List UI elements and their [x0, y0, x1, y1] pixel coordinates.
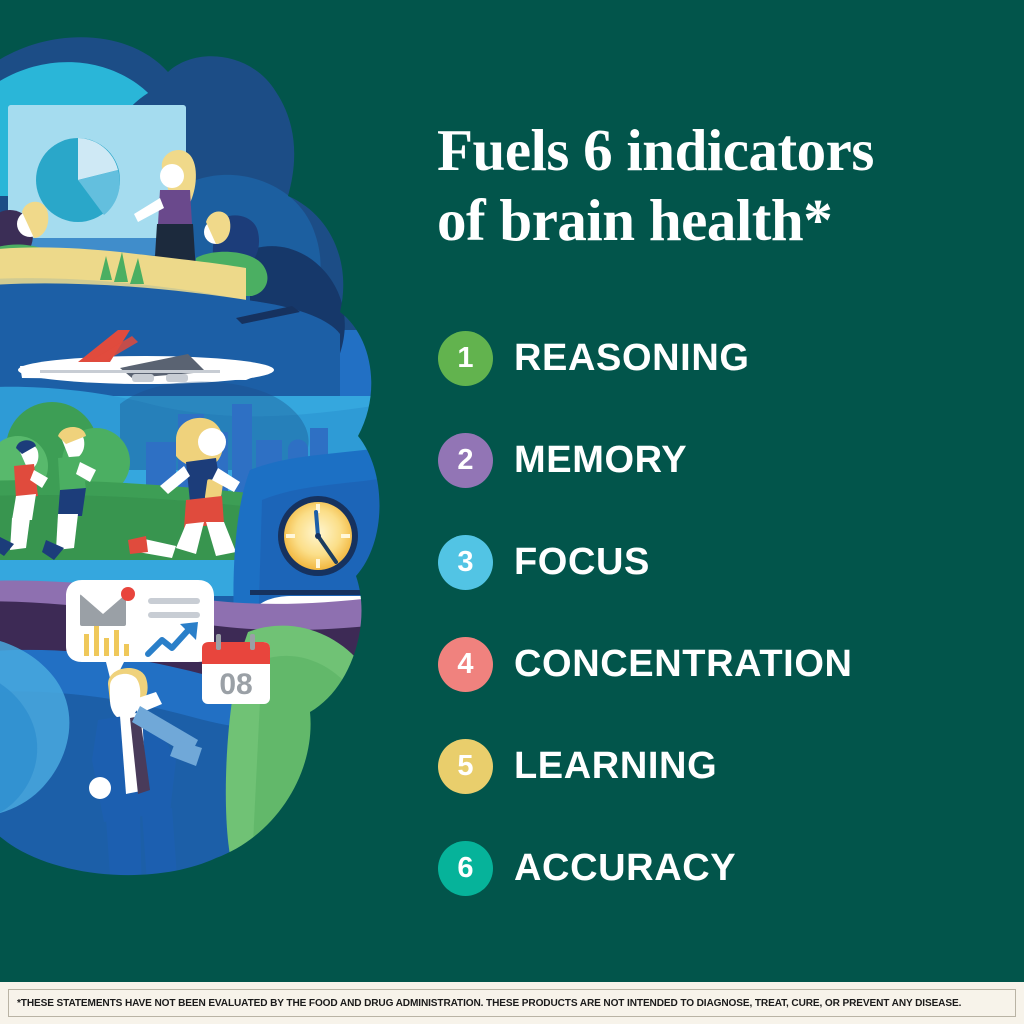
indicator-badge-3: 3 [438, 535, 493, 590]
page-title: Fuels 6 indicators of brain health* [437, 116, 997, 255]
pie-chart [36, 138, 120, 222]
indicator-label-2: MEMORY [514, 439, 687, 482]
indicator-label-4: CONCENTRATION [514, 643, 853, 686]
headline-line-2: of brain health* [437, 186, 997, 256]
indicator-label-3: FOCUS [514, 541, 650, 584]
footer-disclaimer-box: *THESE STATEMENTS HAVE NOT BEEN EVALUATE… [8, 989, 1016, 1017]
infographic-canvas: 08 [0, 0, 1024, 1024]
indicator-list: 1 REASONING 2 MEMORY 3 FOCUS 4 CONCENTRA… [438, 330, 1013, 896]
list-item: 2 MEMORY [438, 432, 1013, 488]
list-item: 3 FOCUS [438, 534, 1013, 590]
indicator-label-6: ACCURACY [514, 847, 736, 890]
indicator-label-5: LEARNING [514, 745, 717, 788]
list-item: 6 ACCURACY [438, 840, 1013, 896]
indicator-label-1: REASONING [514, 337, 750, 380]
footer-disclaimer-bar: *THESE STATEMENTS HAVE NOT BEEN EVALUATE… [0, 982, 1024, 1024]
svg-text:08: 08 [219, 668, 252, 701]
indicator-badge-4: 4 [438, 637, 493, 692]
list-item: 5 LEARNING [438, 738, 1013, 794]
indicator-badge-1: 1 [438, 331, 493, 386]
clock [278, 496, 358, 576]
indicator-badge-6: 6 [438, 841, 493, 896]
brain-collage-svg: 08 [0, 0, 420, 960]
footer-disclaimer-text: *THESE STATEMENTS HAVE NOT BEEN EVALUATE… [17, 998, 961, 1009]
headline-line-1: Fuels 6 indicators [437, 117, 874, 183]
list-item: 1 REASONING [438, 330, 1013, 386]
list-item: 4 CONCENTRATION [438, 636, 1013, 692]
indicator-badge-5: 5 [438, 739, 493, 794]
indicator-badge-2: 2 [438, 433, 493, 488]
calendar: 08 [202, 634, 270, 704]
brain-illustration: 08 [0, 0, 420, 960]
